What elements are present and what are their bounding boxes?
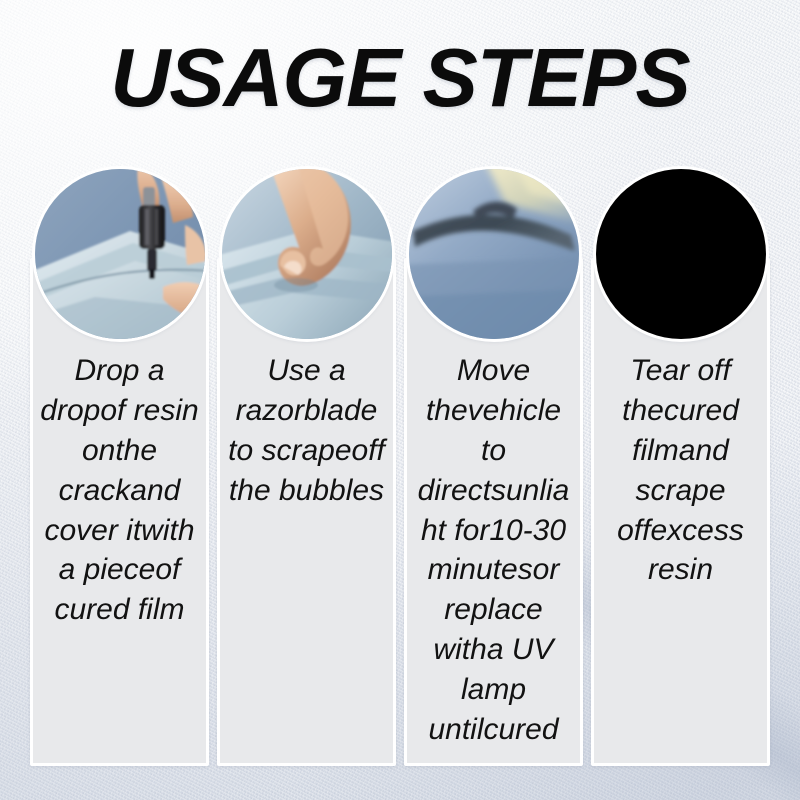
step-card-1[interactable]: Drop a dropof resin onthe crackand cover… bbox=[30, 258, 209, 766]
resin-applicator-on-crack-photo bbox=[35, 169, 205, 339]
step-card-2[interactable]: Use a razorblade to scrapeoff the bubble… bbox=[217, 258, 396, 766]
step-card-3[interactable]: Move thevehicle to directsunliaht for10-… bbox=[404, 258, 583, 766]
steps-row: Drop a dropof resin onthe crackand cover… bbox=[30, 258, 770, 766]
step-text: Use a razorblade to scrapeoff the bubble… bbox=[220, 351, 393, 511]
step-text: Tear off thecured filmand scrape offexce… bbox=[594, 351, 767, 590]
hand-pressing-film-photo bbox=[222, 169, 392, 339]
windshield-sunlight-photo bbox=[409, 169, 579, 339]
missing-image-black-circle bbox=[596, 169, 766, 339]
step-text: Drop a dropof resin onthe crackand cover… bbox=[33, 351, 206, 630]
step-card-4[interactable]: Tear off thecured filmand scrape offexce… bbox=[591, 258, 770, 766]
page-title: USAGE STEPS bbox=[0, 36, 800, 119]
step-text: Move thevehicle to directsunliaht for10-… bbox=[407, 351, 580, 750]
